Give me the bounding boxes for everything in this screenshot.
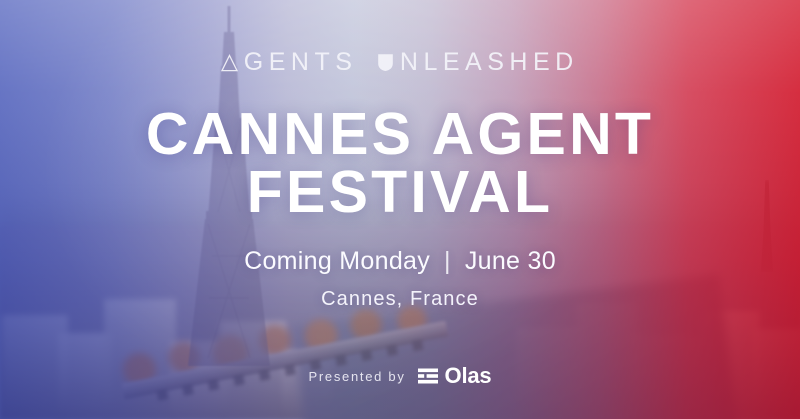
event-dateline: Coming Monday | June 30 bbox=[244, 247, 556, 276]
page-title: CANNES AGENT FESTIVAL bbox=[146, 106, 654, 222]
event-promo-banner: GENTS NLEASHED CANNES AGENT FESTIVAL Com… bbox=[0, 0, 800, 419]
brand-word-unleashed-text: NLEASHED bbox=[400, 50, 579, 75]
event-location: Cannes, France bbox=[321, 288, 479, 311]
brand-word-agents: GENTS bbox=[221, 50, 357, 75]
banner-content: GENTS NLEASHED CANNES AGENT FESTIVAL Com… bbox=[0, 0, 800, 419]
brand-lockup: GENTS NLEASHED bbox=[221, 50, 578, 75]
event-date: June 30 bbox=[465, 247, 556, 276]
brand-word-agents-text: GENTS bbox=[244, 50, 358, 75]
olas-wordmark: Olas bbox=[445, 365, 492, 387]
dateline-separator: | bbox=[444, 247, 451, 276]
presented-by-label: Presented by bbox=[309, 369, 406, 384]
presented-by-footer: Presented by Olas bbox=[0, 365, 800, 387]
headline-line-2: FESTIVAL bbox=[146, 164, 654, 222]
delta-a-icon bbox=[221, 54, 238, 72]
olas-bars-icon bbox=[418, 368, 438, 384]
olas-logo: Olas bbox=[418, 365, 492, 387]
event-day: Coming Monday bbox=[244, 247, 430, 276]
headline-line-1: CANNES AGENT bbox=[146, 101, 654, 167]
brand-word-unleashed: NLEASHED bbox=[377, 50, 578, 75]
shield-u-icon bbox=[377, 53, 394, 72]
